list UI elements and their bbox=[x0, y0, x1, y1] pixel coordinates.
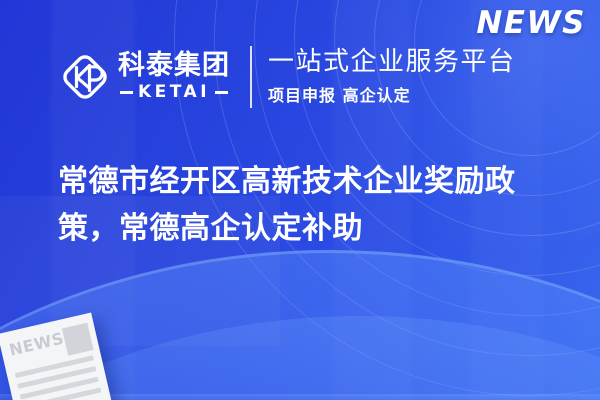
logo-dash-right bbox=[215, 91, 228, 94]
logo-dash-left bbox=[120, 91, 133, 94]
news-banner: NEWS 科泰集团 KETAI bbox=[0, 0, 600, 400]
logo-company-en-row: KETAI bbox=[118, 82, 230, 102]
slogan-main: 一站式企业服务平台 bbox=[268, 48, 516, 78]
ketai-logo-icon bbox=[58, 50, 112, 104]
header-divider bbox=[250, 46, 252, 108]
page-title: 常德市经开区高新技术企业奖励政策，常德高企认定补助 bbox=[58, 158, 570, 252]
newspaper-thumbnail bbox=[61, 323, 93, 356]
logo-company-cn: 科泰集团 bbox=[118, 52, 230, 80]
logo-company-en: KETAI bbox=[138, 82, 210, 102]
slogan-sub: 项目申报 高企认定 bbox=[268, 82, 516, 106]
slogan-block: 一站式企业服务平台 项目申报 高企认定 bbox=[268, 48, 516, 106]
news-badge: NEWS bbox=[476, 5, 586, 41]
logo-wordmark: 科泰集团 KETAI bbox=[118, 52, 230, 102]
newspaper-label: NEWS bbox=[7, 329, 65, 360]
logo: 科泰集团 KETAI bbox=[58, 50, 230, 104]
banner-header: 科泰集团 KETAI 一站式企业服务平台 项目申报 高企认定 bbox=[0, 38, 600, 116]
